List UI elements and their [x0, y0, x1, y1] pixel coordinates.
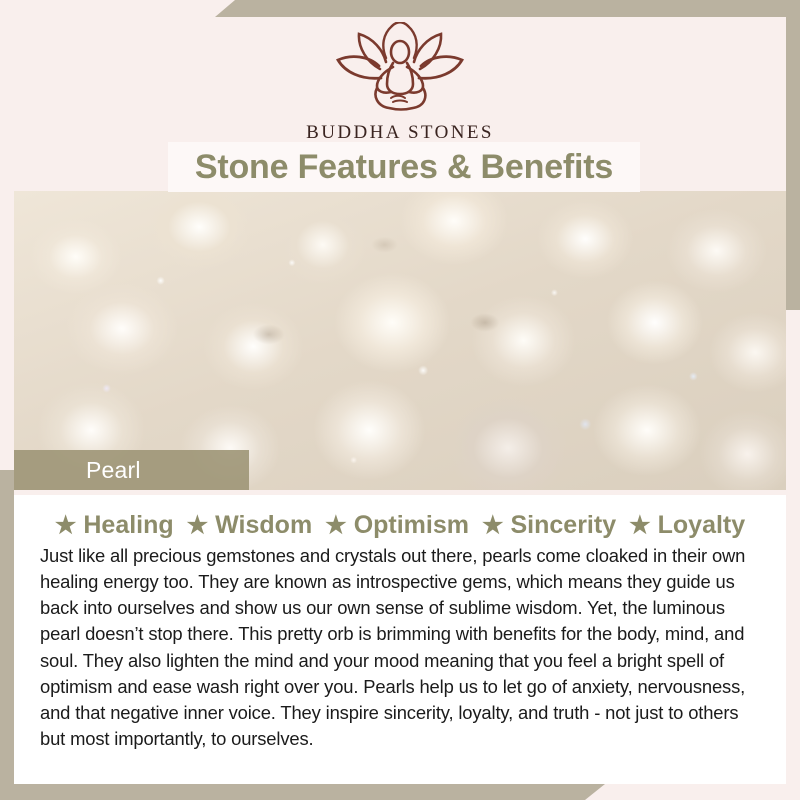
pearl-gemstones-photo: [14, 191, 786, 490]
content-card: ★Healing★Wisdom★Optimism★Sincerity★Loyal…: [14, 495, 786, 784]
title-banner: Stone Features & Benefits: [168, 142, 640, 192]
star-icon: ★: [482, 514, 504, 538]
benefit-item: ★Wisdom: [187, 511, 313, 540]
benefits-list: ★Healing★Wisdom★Optimism★Sincerity★Loyal…: [40, 511, 760, 540]
page-title: Stone Features & Benefits: [195, 148, 613, 187]
brand-name: BUDDHA STONES: [0, 122, 800, 144]
lotus-meditation-icon: [323, 22, 477, 118]
benefit-label: Wisdom: [215, 511, 312, 540]
stone-description: Just like all precious gemstones and cry…: [40, 543, 760, 752]
star-icon: ★: [55, 514, 77, 538]
stone-name-label: Pearl: [86, 457, 141, 484]
star-icon: ★: [325, 514, 347, 538]
benefit-label: Sincerity: [511, 511, 617, 540]
benefit-item: ★Optimism: [325, 511, 469, 540]
poster-root: BUDDHA STONES Stone Features & Benefits …: [0, 0, 800, 800]
benefit-label: Loyalty: [658, 511, 746, 540]
frame-band-bottom: [0, 784, 605, 800]
hero-image: [14, 191, 786, 490]
benefit-label: Optimism: [354, 511, 469, 540]
benefit-item: ★Loyalty: [629, 511, 745, 540]
stone-name-bar: Pearl: [14, 450, 249, 490]
benefit-item: ★Sincerity: [482, 511, 616, 540]
brand-logo-block: BUDDHA STONES: [0, 22, 800, 144]
benefit-label: Healing: [83, 511, 173, 540]
benefit-item: ★Healing: [55, 511, 174, 540]
star-icon: ★: [629, 514, 651, 538]
frame-band-left: [0, 470, 14, 786]
star-icon: ★: [187, 514, 209, 538]
frame-band-top: [215, 0, 800, 17]
